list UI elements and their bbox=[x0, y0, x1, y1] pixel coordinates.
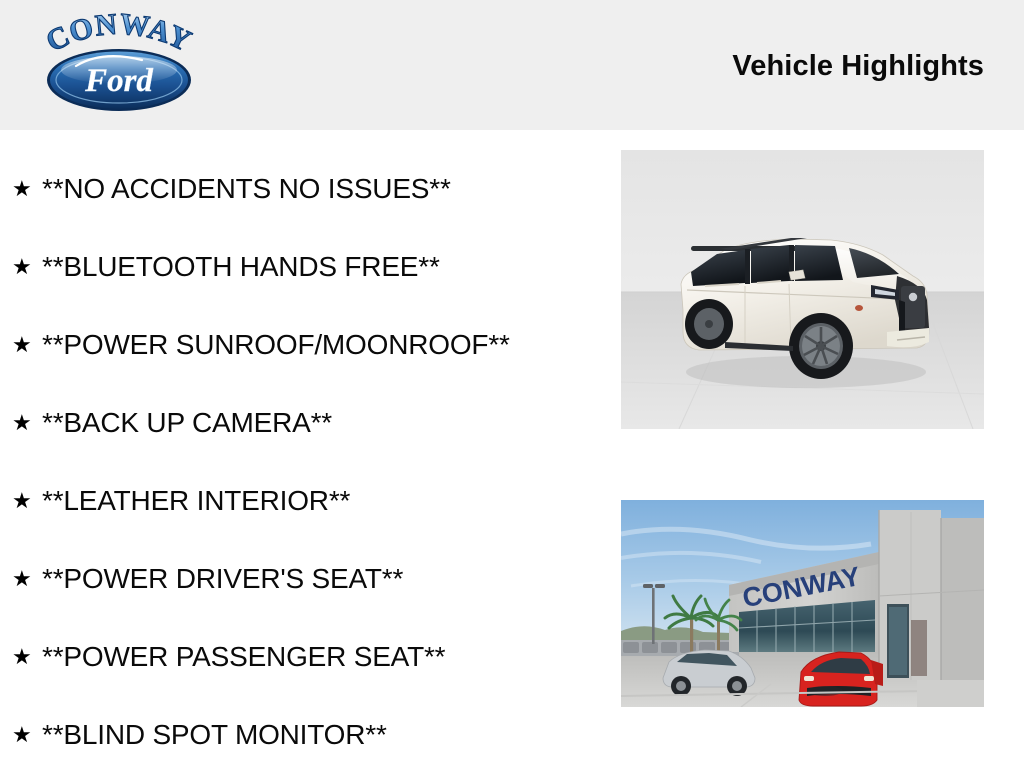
list-item-label: **NO ACCIDENTS NO ISSUES** bbox=[42, 173, 451, 205]
list-item: ★ **BLIND SPOT MONITOR** bbox=[0, 696, 610, 768]
list-item-label: **POWER DRIVER'S SEAT** bbox=[42, 563, 403, 595]
star-icon: ★ bbox=[12, 256, 42, 278]
list-item: ★ **POWER SUNROOF/MOONROOF** bbox=[0, 306, 610, 384]
list-item-label: **LEATHER INTERIOR** bbox=[42, 485, 350, 517]
star-icon: ★ bbox=[12, 490, 42, 512]
star-icon: ★ bbox=[12, 412, 42, 434]
star-icon: ★ bbox=[12, 724, 42, 746]
star-icon: ★ bbox=[12, 334, 42, 356]
conway-ford-logo-icon: CONWAY Ford bbox=[24, 8, 214, 120]
vehicle-highlights-page: CONWAY Ford Vehicle Highlights ★ **NO AC… bbox=[0, 0, 1024, 768]
list-item-label: **BLIND SPOT MONITOR** bbox=[42, 719, 387, 751]
front-wheel bbox=[789, 313, 853, 379]
list-item: ★ **BACK UP CAMERA** bbox=[0, 384, 610, 462]
list-item-label: **BLUETOOTH HANDS FREE** bbox=[42, 251, 440, 283]
conway-ford-logo: CONWAY Ford bbox=[24, 8, 214, 120]
vehicle-photo-image bbox=[621, 150, 984, 429]
page-title: Vehicle Highlights bbox=[732, 50, 984, 83]
dealership-photo-image: CONWAY bbox=[621, 500, 984, 707]
list-item: ★ **LEATHER INTERIOR** bbox=[0, 462, 610, 540]
list-item: ★ **NO ACCIDENTS NO ISSUES** bbox=[0, 150, 610, 228]
list-item: ★ **BLUETOOTH HANDS FREE** bbox=[0, 228, 610, 306]
vehicle-highlights-list: ★ **NO ACCIDENTS NO ISSUES** ★ **BLUETOO… bbox=[0, 150, 610, 768]
dealership-photo: CONWAY bbox=[621, 500, 984, 707]
vehicle-photo bbox=[621, 150, 984, 429]
star-icon: ★ bbox=[12, 568, 42, 590]
rear-wheel bbox=[685, 299, 733, 349]
list-item-label: **POWER PASSENGER SEAT** bbox=[42, 641, 445, 673]
list-item: ★ **POWER DRIVER'S SEAT** bbox=[0, 540, 610, 618]
svg-text:Ford: Ford bbox=[84, 63, 153, 99]
list-item-label: **POWER SUNROOF/MOONROOF** bbox=[42, 329, 510, 361]
list-item-label: **BACK UP CAMERA** bbox=[42, 407, 332, 439]
star-icon: ★ bbox=[12, 646, 42, 668]
list-item: ★ **POWER PASSENGER SEAT** bbox=[0, 618, 610, 696]
header-band: CONWAY Ford Vehicle Highlights bbox=[0, 0, 1024, 130]
star-icon: ★ bbox=[12, 178, 42, 200]
